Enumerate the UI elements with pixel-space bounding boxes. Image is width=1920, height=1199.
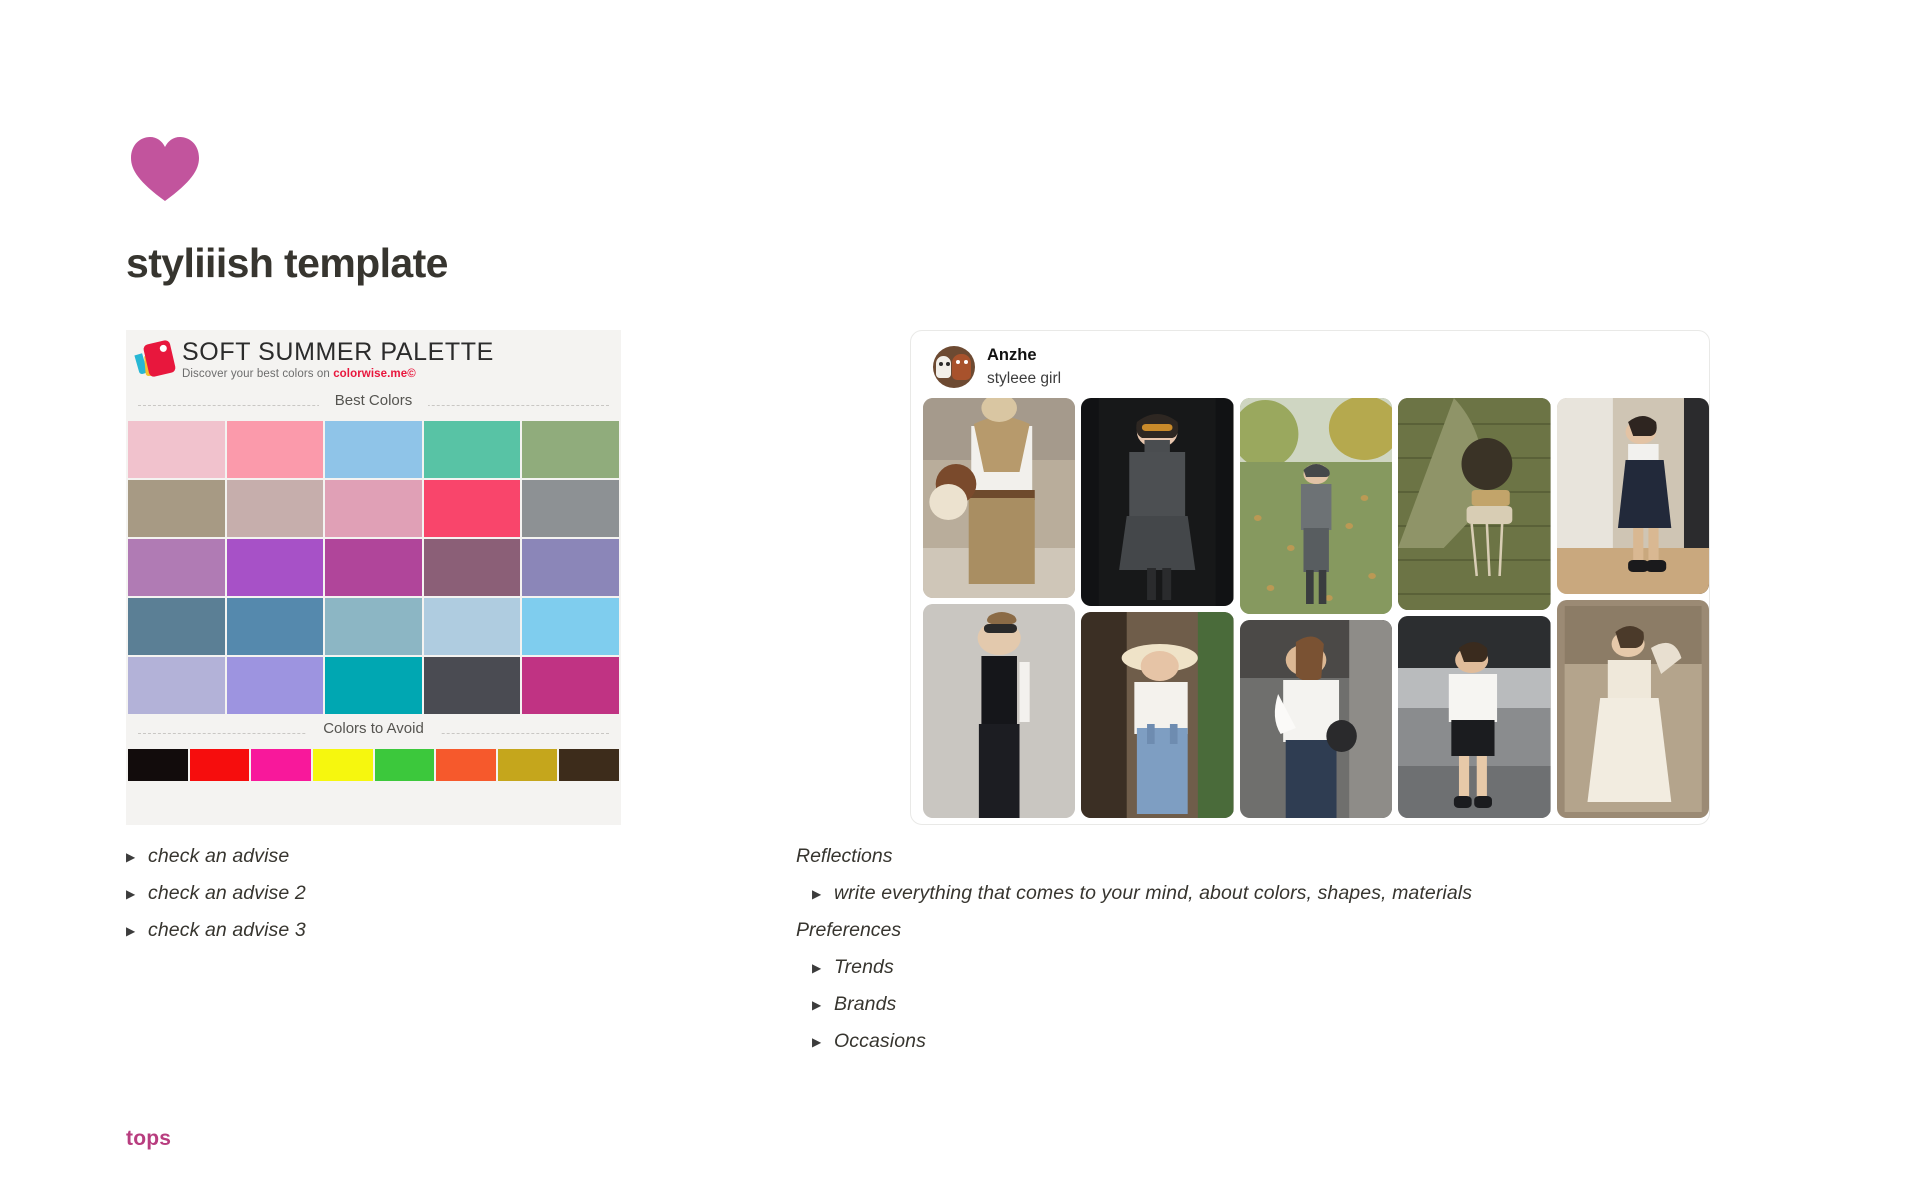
palette-swatch-0-1 xyxy=(227,421,324,478)
colorwise-logo-icon xyxy=(134,340,178,380)
section-heading-0[interactable]: Reflections xyxy=(796,838,1556,875)
section-heading-label: Preferences xyxy=(796,919,901,942)
palette-swatch-1-2 xyxy=(325,480,422,537)
pinterest-user-name[interactable]: Anzhe xyxy=(987,345,1061,366)
tagline-prefix: Discover your best colors on xyxy=(182,368,333,380)
chevron-right-icon[interactable]: ▶ xyxy=(126,850,148,864)
toggle-item-0[interactable]: ▶check an advise xyxy=(126,838,646,875)
avoid-colors-label: Colors to Avoid xyxy=(307,720,440,737)
avoid-swatch-4 xyxy=(375,749,435,781)
avatar xyxy=(933,346,975,388)
palette-swatch-4-0 xyxy=(128,657,225,714)
palette-swatch-0-0 xyxy=(128,421,225,478)
palette-swatch-3-4 xyxy=(522,598,619,655)
best-colors-label: Best Colors xyxy=(319,392,429,409)
right-section-list: Reflections▶write everything that comes … xyxy=(796,838,1556,1060)
toggle-item-label: Brands xyxy=(834,993,896,1016)
toggle-item-5[interactable]: ▶Occasions xyxy=(796,1023,1556,1060)
pin-column xyxy=(923,398,1075,818)
chevron-right-icon[interactable]: ▶ xyxy=(126,887,148,901)
palette-swatch-4-3 xyxy=(424,657,521,714)
pin-column xyxy=(1557,398,1709,818)
avoid-colors-grid xyxy=(126,749,621,785)
pink-heart-icon[interactable] xyxy=(127,132,203,208)
pin-image-denim-overalls[interactable] xyxy=(1081,612,1233,818)
toggle-item-label: Trends xyxy=(834,956,894,979)
avoid-swatch-7 xyxy=(559,749,619,781)
avoid-swatch-1 xyxy=(190,749,250,781)
section-heading-label: Reflections xyxy=(796,845,892,868)
palette-header: SOFT SUMMER PALETTE Discover your best c… xyxy=(126,330,621,390)
palette-swatch-2-0 xyxy=(128,539,225,596)
pin-image-grey-tweed[interactable] xyxy=(1081,398,1233,606)
palette-brand-title: SOFT SUMMER PALETTE xyxy=(182,340,494,365)
toggle-item-label: check an advise 3 xyxy=(148,919,306,942)
pinterest-board-embed[interactable]: Anzhe styleee girl xyxy=(910,330,1710,825)
palette-swatch-3-1 xyxy=(227,598,324,655)
pin-image-white-blouse[interactable] xyxy=(1240,620,1392,818)
avoid-swatch-2 xyxy=(251,749,311,781)
best-colors-divider: Best Colors xyxy=(138,392,609,418)
chevron-right-icon[interactable]: ▶ xyxy=(812,998,834,1012)
palette-swatch-4-4 xyxy=(522,657,619,714)
chevron-right-icon[interactable]: ▶ xyxy=(126,924,148,938)
palette-swatch-4-1 xyxy=(227,657,324,714)
palette-swatch-3-3 xyxy=(424,598,521,655)
palette-swatch-1-0 xyxy=(128,480,225,537)
pin-image-autumn-park[interactable] xyxy=(1240,398,1392,614)
pin-image-navy-pinafore[interactable] xyxy=(1557,398,1709,594)
toggle-item-2[interactable]: ▶check an advise 3 xyxy=(126,912,646,949)
palette-swatch-1-3 xyxy=(424,480,521,537)
pin-image-cream-linen-dress[interactable] xyxy=(1557,600,1709,818)
pinterest-header: Anzhe styleee girl xyxy=(911,331,1709,398)
palette-swatch-1-1 xyxy=(227,480,324,537)
toggle-item-label: write everything that comes to your mind… xyxy=(834,882,1472,905)
notion-page: styliiish template SOFT SUMMER PALETTE D… xyxy=(0,0,1920,1199)
toggle-item-label: Occasions xyxy=(834,1030,926,1053)
palette-swatch-2-3 xyxy=(424,539,521,596)
palette-swatch-0-3 xyxy=(424,421,521,478)
palette-swatch-0-4 xyxy=(522,421,619,478)
palette-swatch-1-4 xyxy=(522,480,619,537)
page-title[interactable]: styliiish template xyxy=(126,240,448,287)
pinterest-user-handle: styleee girl xyxy=(987,369,1061,388)
palette-tagline: Discover your best colors on colorwise.m… xyxy=(182,369,494,381)
palette-swatch-4-2 xyxy=(325,657,422,714)
toggle-item-4[interactable]: ▶Brands xyxy=(796,986,1556,1023)
palette-swatch-0-2 xyxy=(325,421,422,478)
palette-swatch-2-4 xyxy=(522,539,619,596)
pin-column xyxy=(1240,398,1392,818)
toggle-item-label: check an advise xyxy=(148,845,289,868)
toggle-item-3[interactable]: ▶Trends xyxy=(796,949,1556,986)
soft-summer-palette-image[interactable]: SOFT SUMMER PALETTE Discover your best c… xyxy=(126,330,621,825)
chevron-right-icon[interactable]: ▶ xyxy=(812,887,834,901)
left-toggle-list: ▶check an advise▶check an advise 2▶check… xyxy=(126,838,646,949)
avoid-swatch-5 xyxy=(436,749,496,781)
palette-swatch-2-1 xyxy=(227,539,324,596)
toggle-item-1[interactable]: ▶write everything that comes to your min… xyxy=(796,875,1556,912)
palette-swatch-3-0 xyxy=(128,598,225,655)
palette-swatch-2-2 xyxy=(325,539,422,596)
chevron-right-icon[interactable]: ▶ xyxy=(812,1035,834,1049)
pin-image-black-tank[interactable] xyxy=(923,604,1075,818)
pinterest-image-grid xyxy=(911,398,1709,818)
pin-image-white-shirt-mini-skirt[interactable] xyxy=(1398,616,1550,818)
pin-column xyxy=(1398,398,1550,818)
avoid-swatch-3 xyxy=(313,749,373,781)
chevron-right-icon[interactable]: ▶ xyxy=(812,961,834,975)
avoid-swatch-0 xyxy=(128,749,188,781)
tagline-brand: colorwise.me xyxy=(333,368,407,380)
avoid-swatch-6 xyxy=(498,749,558,781)
tagline-copyright: © xyxy=(407,368,416,380)
palette-swatch-3-2 xyxy=(325,598,422,655)
best-colors-grid xyxy=(126,421,621,714)
pin-image-olive-vest[interactable] xyxy=(1398,398,1550,610)
pin-image-beige-trousers[interactable] xyxy=(923,398,1075,598)
section-heading-2[interactable]: Preferences xyxy=(796,912,1556,949)
toggle-item-1[interactable]: ▶check an advise 2 xyxy=(126,875,646,912)
footer-tops-heading[interactable]: tops xyxy=(126,1127,171,1151)
toggle-item-label: check an advise 2 xyxy=(148,882,306,905)
pin-column xyxy=(1081,398,1233,818)
avoid-colors-divider: Colors to Avoid xyxy=(138,720,609,746)
